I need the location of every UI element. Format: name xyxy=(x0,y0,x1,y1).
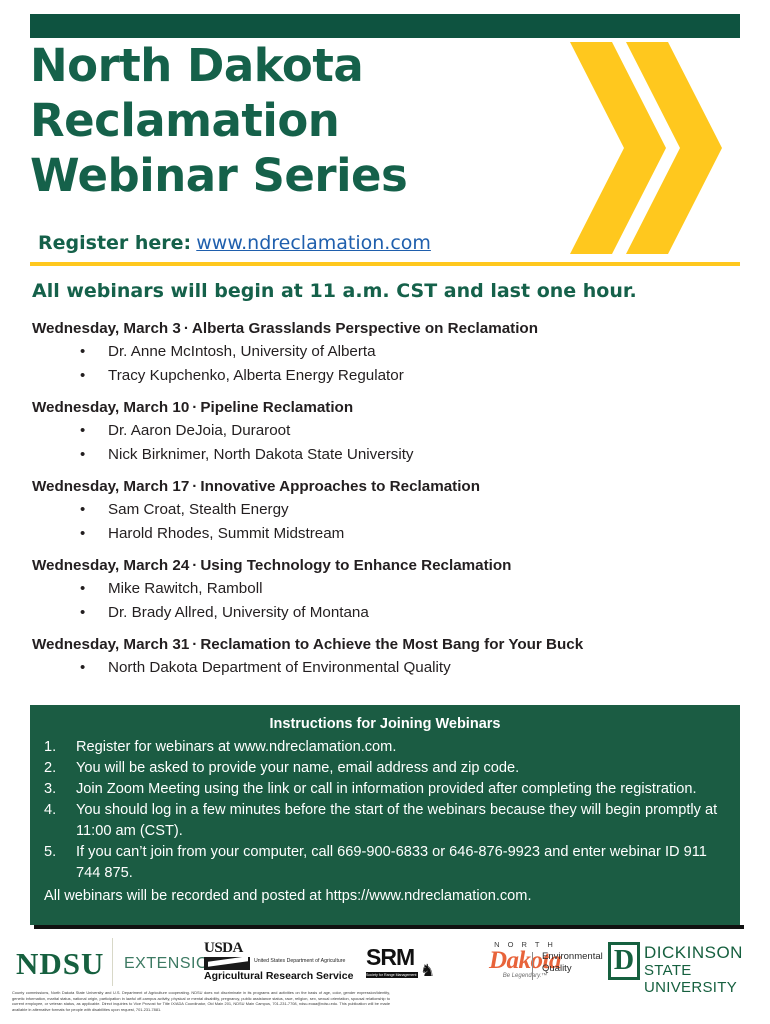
session-heading: Wednesday, March 10·Pipeline Reclamation xyxy=(32,397,738,419)
session-date: Wednesday, March 10 xyxy=(32,399,189,416)
north-dakota-divider xyxy=(532,952,533,980)
session-topic: Alberta Grasslands Perspective on Reclam… xyxy=(192,320,538,337)
instruction-item: 4.You should log in a few minutes before… xyxy=(30,800,740,842)
webinar-time-subtitle: All webinars will begin at 11 a.m. CST a… xyxy=(32,280,637,302)
instructions-list: 1.Register for webinars at www.ndreclama… xyxy=(30,737,740,884)
instruction-item: 2.You will be asked to provide your name… xyxy=(30,758,740,779)
instruction-number: 3. xyxy=(44,779,76,800)
register-label: Register here: xyxy=(38,232,191,254)
bullet-icon: • xyxy=(80,522,108,546)
session-date: Wednesday, March 24 xyxy=(32,557,189,574)
session-heading: Wednesday, March 24·Using Technology to … xyxy=(32,555,738,577)
instructions-footnote: All webinars will be recorded and posted… xyxy=(30,884,740,907)
session-topic: Innovative Approaches to Reclamation xyxy=(200,478,480,495)
session-separator: · xyxy=(189,636,200,653)
speaker-label: Harold Rhodes, Summit Midstream xyxy=(108,522,344,546)
speaker-item: •Nick Birknimer, North Dakota State Univ… xyxy=(32,443,738,467)
session-separator: · xyxy=(189,478,200,495)
title-line-1: North Dakota xyxy=(30,38,570,93)
bullet-icon: • xyxy=(80,601,108,625)
srm-subtitle: Society for Range Management xyxy=(366,972,418,978)
instruction-text: If you can’t join from your computer, ca… xyxy=(76,842,726,884)
srm-logo: SRM Society for Range Management ♞ xyxy=(366,944,448,978)
usda-wordmark: USDA xyxy=(204,940,372,957)
session-topic: Pipeline Reclamation xyxy=(200,399,353,416)
north-dakota-logo: N O R T H Dakota Be Legendary.™ Environm… xyxy=(452,940,598,979)
eq-line-2: Quality xyxy=(542,963,603,975)
speaker-item: •Harold Rhodes, Summit Midstream xyxy=(32,522,738,546)
schedule-list: Wednesday, March 3·Alberta Grasslands Pe… xyxy=(32,318,738,680)
usda-swoosh-icon xyxy=(204,957,250,970)
dickinson-d-mark: D xyxy=(608,942,640,980)
register-row: Register here: www.ndreclamation.com xyxy=(38,232,431,254)
speaker-label: Tracy Kupchenko, Alberta Energy Regulato… xyxy=(108,364,404,388)
bullet-icon: • xyxy=(80,656,108,680)
dickinson-line-1: DICKINSON xyxy=(644,944,758,962)
session-separator: · xyxy=(189,399,200,416)
instructions-title: Instructions for Joining Webinars xyxy=(30,705,740,734)
bullet-icon: • xyxy=(80,577,108,601)
bullet-icon: • xyxy=(80,443,108,467)
usda-logo: USDA United States Department of Agricul… xyxy=(204,940,372,970)
header-green-bar xyxy=(30,14,740,38)
session-heading: Wednesday, March 3·Alberta Grasslands Pe… xyxy=(32,318,738,340)
speaker-item: •Dr. Anne McIntosh, University of Albert… xyxy=(32,340,738,364)
speaker-label: Nick Birknimer, North Dakota State Unive… xyxy=(108,443,414,467)
speaker-label: Dr. Aaron DeJoia, Duraroot xyxy=(108,419,290,443)
double-chevron-icon xyxy=(570,42,738,254)
ndsu-logo: NDSU xyxy=(16,946,104,982)
speaker-label: Sam Croat, Stealth Energy xyxy=(108,498,289,522)
instruction-item: 5.If you can’t join from your computer, … xyxy=(30,842,740,884)
instruction-text: You will be asked to provide your name, … xyxy=(76,758,726,779)
speaker-item: •Dr. Brady Allred, University of Montana xyxy=(32,601,738,625)
instruction-number: 2. xyxy=(44,758,76,779)
speaker-item: •Mike Rawitch, Ramboll xyxy=(32,577,738,601)
page-title: North Dakota Reclamation Webinar Series xyxy=(30,38,570,203)
speaker-label: North Dakota Department of Environmental… xyxy=(108,656,451,680)
session-heading: Wednesday, March 17·Innovative Approache… xyxy=(32,476,738,498)
dickinson-wordmark: DICKINSON STATE UNIVERSITY xyxy=(644,944,758,996)
register-link[interactable]: www.ndreclamation.com xyxy=(196,232,431,254)
eq-line-1: Environmental xyxy=(542,951,603,963)
usda-ars-label: Agricultural Research Service xyxy=(204,970,353,982)
instruction-item: 1.Register for webinars at www.ndreclama… xyxy=(30,737,740,758)
session-separator: · xyxy=(189,557,200,574)
usda-subtitle: United States Department of Agriculture xyxy=(254,958,345,964)
instruction-text: Join Zoom Meeting using the link or call… xyxy=(76,779,726,800)
instruction-number: 5. xyxy=(44,842,76,884)
instruction-item: 3.Join Zoom Meeting using the link or ca… xyxy=(30,779,740,800)
nondiscrimination-disclaimer: County commissions, North Dakota State U… xyxy=(12,990,390,1012)
environmental-quality-label: Environmental Quality xyxy=(542,951,603,975)
speaker-item: •Dr. Aaron DeJoia, Duraroot xyxy=(32,419,738,443)
speaker-label: Dr. Brady Allred, University of Montana xyxy=(108,601,369,625)
instruction-text: Register for webinars at www.ndreclamati… xyxy=(76,737,726,758)
dickinson-line-2: STATE UNIVERSITY xyxy=(644,962,758,996)
bullet-icon: • xyxy=(80,340,108,364)
instructions-panel: Instructions for Joining Webinars 1.Regi… xyxy=(30,705,740,925)
session-date: Wednesday, March 17 xyxy=(32,478,189,495)
title-line-2: Reclamation xyxy=(30,93,570,148)
bullet-icon: • xyxy=(80,364,108,388)
instructions-panel-shadow xyxy=(34,925,744,929)
session-topic: Using Technology to Enhance Reclamation xyxy=(200,557,511,574)
session-topic: Reclamation to Achieve the Most Bang for… xyxy=(200,636,583,653)
footer-logo-strip: NDSU EXTENSION USDA United States Depart… xyxy=(0,934,770,990)
speaker-item: •North Dakota Department of Environmenta… xyxy=(32,656,738,680)
title-line-3: Webinar Series xyxy=(30,148,570,203)
session-date: Wednesday, March 31 xyxy=(32,636,189,653)
horse-rider-icon: ♞ xyxy=(420,962,435,979)
yellow-divider xyxy=(30,262,740,266)
speaker-item: •Sam Croat, Stealth Energy xyxy=(32,498,738,522)
instruction-number: 1. xyxy=(44,737,76,758)
session-separator: · xyxy=(181,320,192,337)
session-heading: Wednesday, March 31·Reclamation to Achie… xyxy=(32,634,738,656)
speaker-label: Dr. Anne McIntosh, University of Alberta xyxy=(108,340,376,364)
srm-wordmark: SRM xyxy=(366,944,448,971)
footer-divider-1 xyxy=(112,938,113,986)
bullet-icon: • xyxy=(80,498,108,522)
instruction-text: You should log in a few minutes before t… xyxy=(76,800,726,842)
instruction-number: 4. xyxy=(44,800,76,842)
bullet-icon: • xyxy=(80,419,108,443)
speaker-item: •Tracy Kupchenko, Alberta Energy Regulat… xyxy=(32,364,738,388)
session-date: Wednesday, March 3 xyxy=(32,320,181,337)
speaker-label: Mike Rawitch, Ramboll xyxy=(108,577,262,601)
